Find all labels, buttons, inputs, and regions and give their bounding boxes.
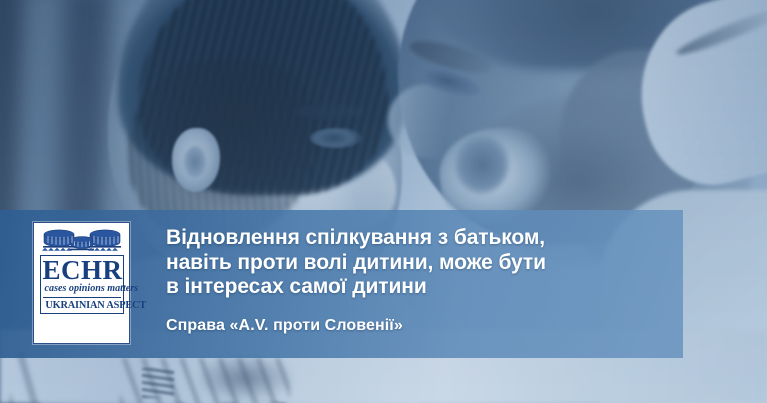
headline-line-3: в інтересах самої дитини: [166, 275, 671, 300]
logo-text-box: ECHR cases opinions matters UKRAINIAN AS…: [40, 255, 124, 314]
echr-ukrainian-aspect-logo[interactable]: ECHR cases opinions matters UKRAINIAN AS…: [33, 222, 130, 344]
headline-line-2: навіть проти волі дитини, може бути: [166, 251, 671, 276]
echr-building-icon: [41, 227, 123, 253]
echr-case-banner: ECHR cases opinions matters UKRAINIAN AS…: [0, 0, 767, 403]
case-subtitle: Справа «A.V. проти Словенії»: [166, 317, 403, 335]
logo-tagline: cases opinions matters: [44, 284, 119, 295]
logo-divider: [43, 297, 121, 299]
logo-title: ECHR: [43, 257, 121, 283]
headline-line-1: Відновлення спілкування з батьком,: [166, 226, 671, 251]
logo-region: UKRAINIAN ASPECT: [45, 300, 118, 311]
headline: Відновлення спілкування з батьком, навіт…: [166, 226, 671, 300]
